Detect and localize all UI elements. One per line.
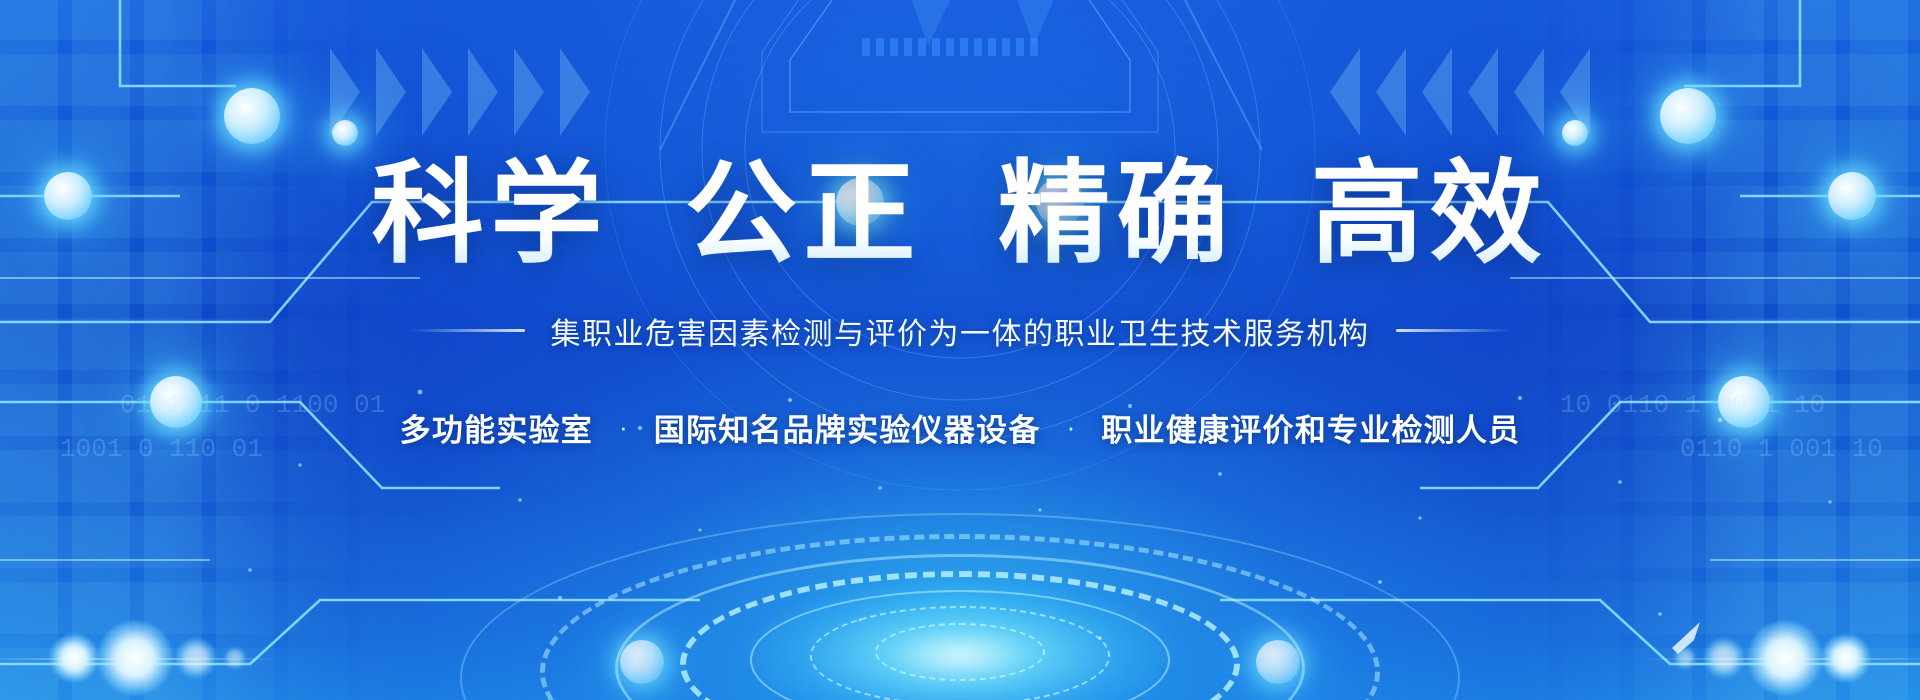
tagline-item-1: 多功能实验室 bbox=[400, 405, 593, 450]
banner-subtitle: 集职业危害因素检测与评价为一体的职业卫生技术服务机构 bbox=[551, 309, 1370, 353]
horizontal-rule-right bbox=[1396, 329, 1512, 332]
tagline-separator: · bbox=[619, 414, 628, 440]
tagline-row: 多功能实验室 · 国际知名品牌实验仪器设备 · 职业健康评价和专业检测人员 bbox=[400, 405, 1521, 450]
subtitle-row: 集职业危害因素检测与评价为一体的职业卫生技术服务机构 bbox=[409, 309, 1512, 353]
page-title: 科学 公正 精确 高效 bbox=[372, 150, 1549, 279]
tagline-item-2: 国际知名品牌实验仪器设备 bbox=[654, 405, 1041, 450]
tagline-separator: · bbox=[1067, 414, 1076, 440]
horizontal-rule-left bbox=[409, 329, 525, 332]
tagline-item-3: 职业健康评价和专业检测人员 bbox=[1101, 405, 1520, 450]
banner-content: 科学 公正 精确 高效 集职业危害因素检测与评价为一体的职业卫生技术服务机构 多… bbox=[0, 0, 1920, 700]
hero-banner: 01 1011 0 1100 01 10 0110 1 0011 10 1001… bbox=[0, 0, 1920, 700]
